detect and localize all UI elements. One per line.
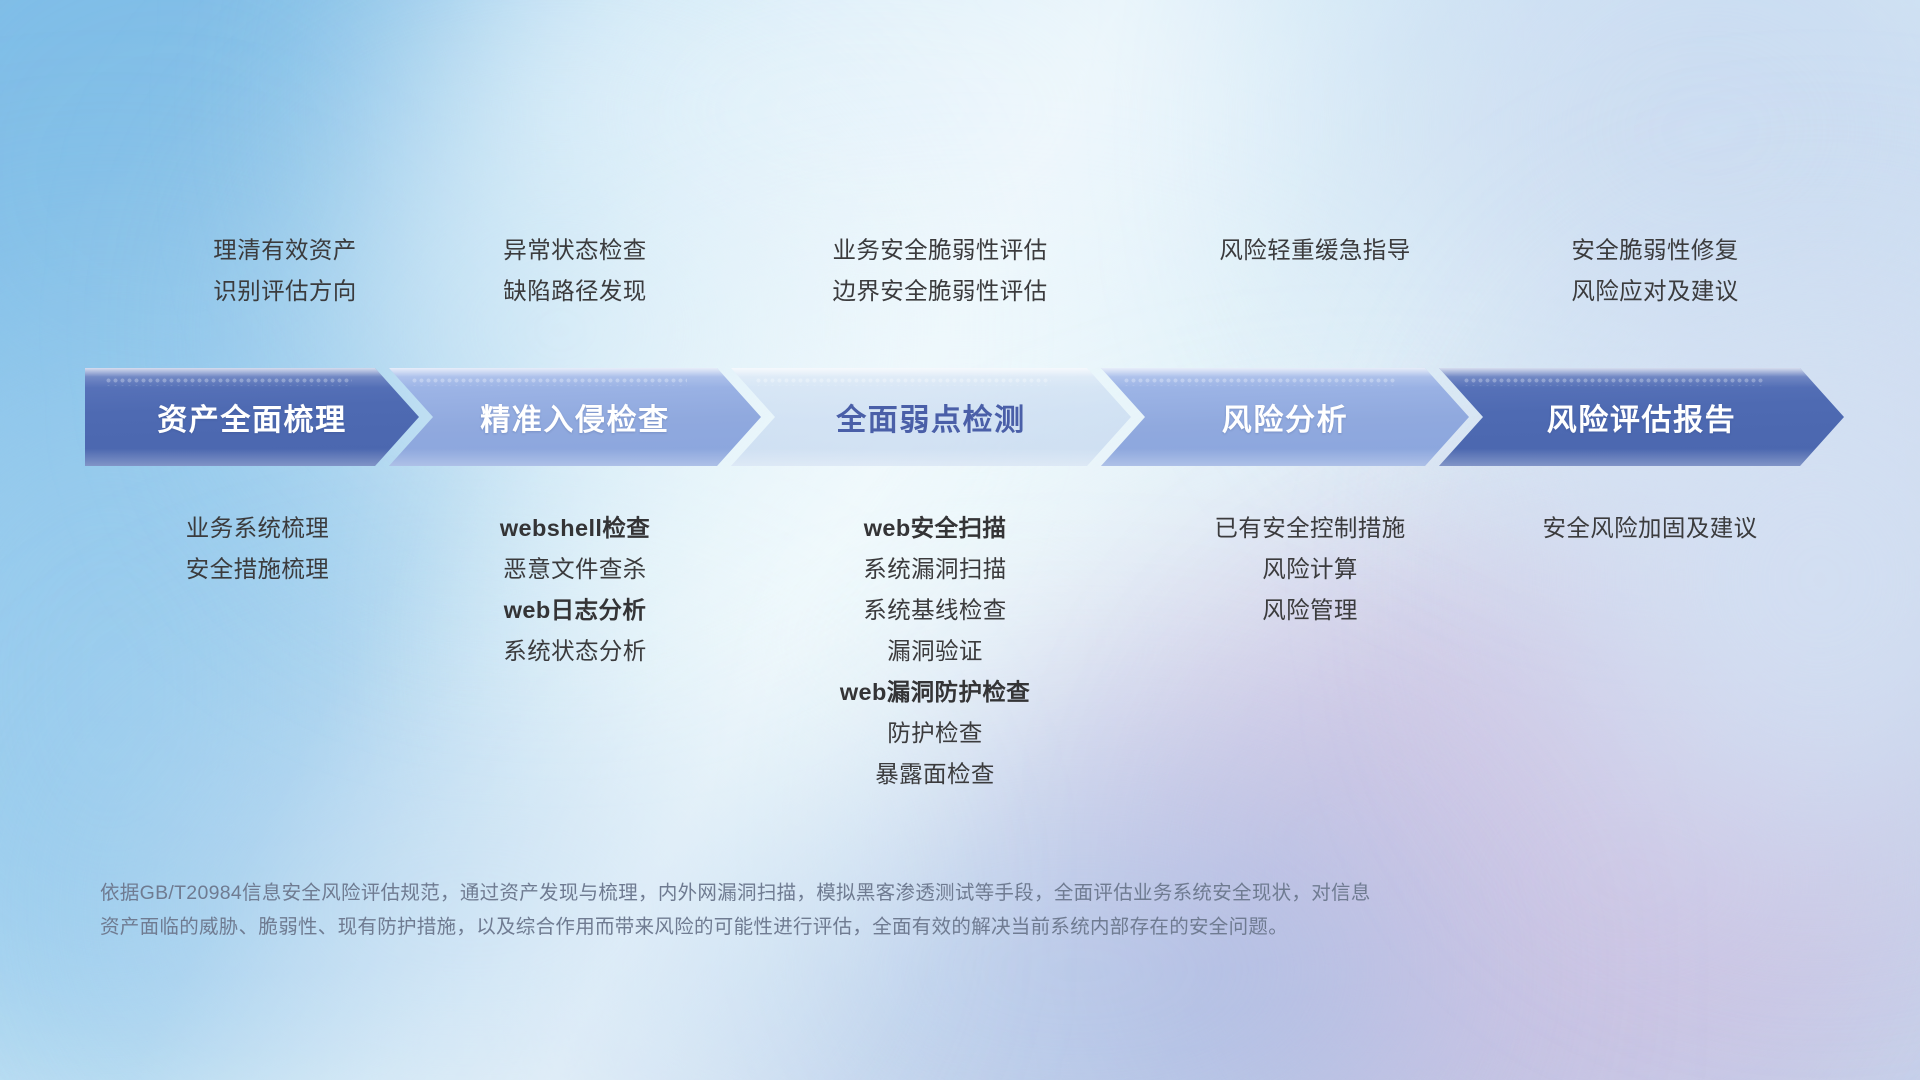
process-step-asset-inventory[interactable]: 资产全面梳理: [85, 368, 419, 466]
top-item: 风险应对及建议: [1455, 271, 1855, 312]
bottom-item: webshell检查: [385, 508, 765, 549]
top-item: 业务安全脆弱性评估: [740, 230, 1140, 271]
bottom-item: web漏洞防护检查: [740, 672, 1130, 713]
top-item: 边界安全脆弱性评估: [740, 271, 1140, 312]
bottom-item: 漏洞验证: [740, 631, 1130, 672]
bottom-item: 安全风险加固及建议: [1450, 508, 1850, 549]
top-item: 安全脆弱性修复: [1455, 230, 1855, 271]
bottom-item: 风险计算: [1115, 549, 1505, 590]
bottom-item: 安全措施梳理: [85, 549, 430, 590]
top-item: 缺陷路径发现: [375, 271, 775, 312]
bottom-items-risk-analysis: 已有安全控制措施 风险计算 风险管理: [1115, 508, 1505, 631]
process-step-label: 风险评估报告: [1547, 395, 1737, 439]
bottom-item: 防护检查: [740, 713, 1130, 754]
process-step-risk-analysis[interactable]: 风险分析: [1101, 368, 1469, 466]
process-step-label: 精准入侵检查: [480, 395, 670, 439]
bottom-item: 系统状态分析: [385, 631, 765, 672]
process-step-assessment-report[interactable]: 风险评估报告: [1439, 368, 1844, 466]
top-items-assessment-report: 安全脆弱性修复 风险应对及建议: [1455, 230, 1855, 312]
process-step-intrusion-check[interactable]: 精准入侵检查: [389, 368, 761, 466]
footnote: 依据GB/T20984信息安全风险评估规范，通过资产发现与梳理，内外网漏洞扫描，…: [100, 876, 1760, 944]
footnote-line: 依据GB/T20984信息安全风险评估规范，通过资产发现与梳理，内外网漏洞扫描，…: [100, 876, 1760, 910]
bottom-item: web安全扫描: [740, 508, 1130, 549]
bottom-item: 业务系统梳理: [85, 508, 430, 549]
bottom-item: 风险管理: [1115, 590, 1505, 631]
bottom-item: 暴露面检查: [740, 754, 1130, 795]
bottom-item: 系统漏洞扫描: [740, 549, 1130, 590]
bottom-item: 已有安全控制措施: [1115, 508, 1505, 549]
bottom-items-intrusion-check: webshell检查 恶意文件查杀 web日志分析 系统状态分析: [385, 508, 765, 672]
bottom-item: web日志分析: [385, 590, 765, 631]
top-items-intrusion-check: 异常状态检查 缺陷路径发现: [375, 230, 775, 312]
process-step-label: 资产全面梳理: [157, 395, 347, 439]
process-step-label: 风险分析: [1222, 395, 1348, 439]
bottom-items-asset-inventory: 业务系统梳理 安全措施梳理: [85, 508, 430, 590]
top-items-weakness-detection: 业务安全脆弱性评估 边界安全脆弱性评估: [740, 230, 1140, 312]
bottom-item: 系统基线检查: [740, 590, 1130, 631]
bottom-items-assessment-report: 安全风险加固及建议: [1450, 508, 1850, 549]
top-item: 异常状态检查: [375, 230, 775, 271]
process-step-weakness-detection[interactable]: 全面弱点检测: [731, 368, 1131, 466]
bottom-item: 恶意文件查杀: [385, 549, 765, 590]
bottom-items-weakness-detection: web安全扫描 系统漏洞扫描 系统基线检查 漏洞验证 web漏洞防护检查 防护检…: [740, 508, 1130, 795]
process-step-label: 全面弱点检测: [836, 395, 1026, 439]
process-arrow-band: 资产全面梳理 精准入侵检查 全面弱点检测 风险分析 风险评估报告: [0, 368, 1920, 466]
process-diagram: 理清有效资产 识别评估方向 异常状态检查 缺陷路径发现 业务安全脆弱性评估 边界…: [0, 0, 1920, 1080]
footnote-line: 资产面临的威胁、脆弱性、现有防护措施，以及综合作用而带来风险的可能性进行评估，全…: [100, 910, 1760, 944]
